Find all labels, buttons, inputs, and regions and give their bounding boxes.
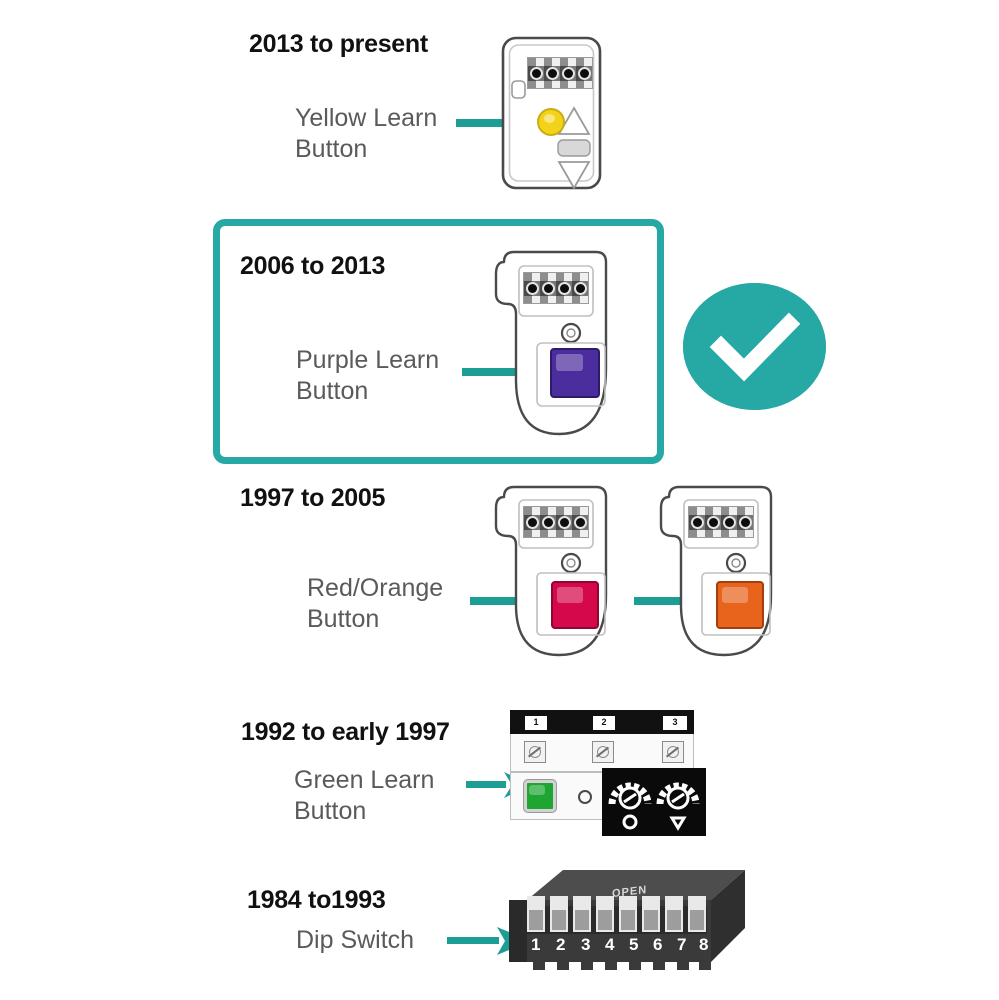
infographic-canvas: 2013 to present Yellow Learn Button	[0, 0, 999, 1000]
red-learn-button[interactable]	[551, 581, 599, 629]
heading-era-2006-2013: 2006 to 2013	[240, 252, 385, 280]
screw-terminal-1	[524, 741, 546, 763]
screw-terminal-3	[662, 741, 684, 763]
heading-era-1992-1997: 1992 to early 1997	[241, 718, 450, 746]
heading-era-1997-2005: 1997 to 2005	[240, 484, 385, 512]
dip-number-6: 6	[653, 935, 662, 955]
callout-yellow-learn-button: Yellow Learn Button	[295, 103, 437, 165]
terminal-label-2: 2	[592, 715, 616, 731]
dip-number-8: 8	[699, 935, 708, 955]
terminal-block-2006	[523, 272, 589, 304]
control-panel-1992: 1 2 3	[510, 710, 706, 836]
terminal-block-1997-red	[523, 506, 589, 538]
callout-green-learn-button: Green Learn Button	[294, 765, 434, 827]
yellow-learn-button[interactable]	[537, 108, 565, 136]
heading-era-2013-present: 2013 to present	[249, 30, 428, 58]
heading-era-1984-1993: 1984 to1993	[247, 886, 385, 914]
terminal-block-2013	[527, 57, 593, 89]
purple-learn-button[interactable]	[550, 348, 600, 398]
dip-number-4: 4	[605, 935, 614, 955]
orange-learn-button[interactable]	[716, 581, 764, 629]
callout-red-orange-button: Red/Orange Button	[307, 573, 443, 635]
green-learn-button[interactable]	[524, 780, 556, 812]
dip-number-2: 2	[556, 935, 565, 955]
dip-switch-assembly[interactable]: OPEN 1 2 3 4 5 6 7 8	[505, 866, 745, 976]
indicator-hole	[578, 790, 592, 804]
check-circle-icon	[683, 283, 826, 410]
dip-number-3: 3	[581, 935, 590, 955]
knob-panel	[602, 768, 706, 836]
dip-number-5: 5	[629, 935, 638, 955]
terminal-label-3: 3	[662, 715, 688, 731]
callout-purple-learn-button: Purple Learn Button	[296, 345, 439, 407]
dip-number-7: 7	[677, 935, 686, 955]
callout-dip-switch: Dip Switch	[296, 925, 414, 956]
screw-terminal-2	[592, 741, 614, 763]
dip-number-1: 1	[531, 935, 540, 955]
terminal-label-1: 1	[524, 715, 548, 731]
terminal-block-1997-orange	[688, 506, 754, 538]
